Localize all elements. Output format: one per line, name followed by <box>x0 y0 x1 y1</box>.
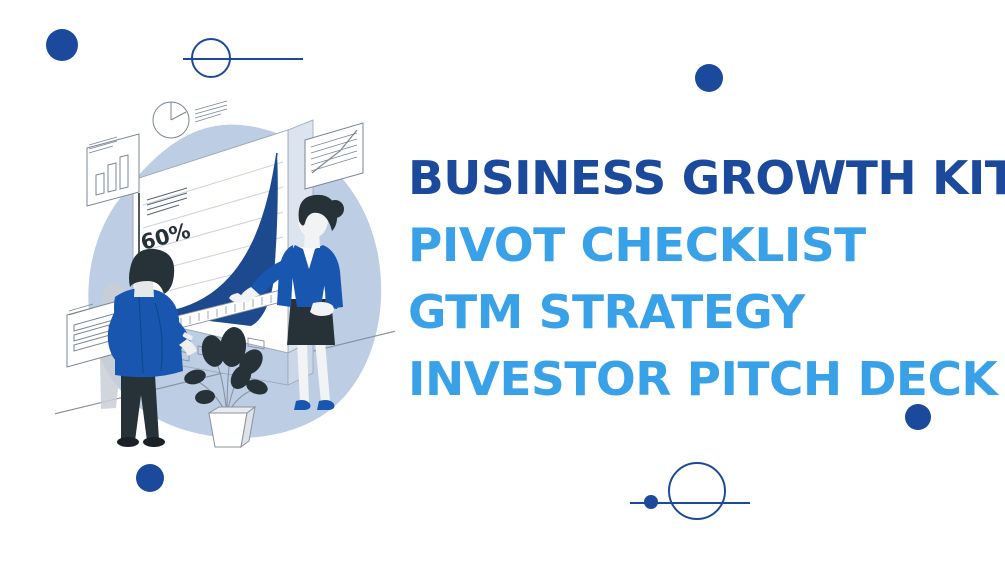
dot-bottom-right-icon <box>644 495 658 509</box>
headline-block: BUSINESS GROWTH KIT: PIVOT CHECKLIST GTM… <box>408 145 988 413</box>
dot-top-left-icon <box>46 29 78 61</box>
ring-bottom-right-icon <box>668 462 726 520</box>
line-chart-card <box>305 123 363 189</box>
dot-bottom-left-icon <box>136 464 164 492</box>
slide-canvas: 60% <box>0 0 1005 565</box>
headline-line-3: GTM STRATEGY <box>408 279 1000 346</box>
ring-top-icon <box>191 38 231 78</box>
headline-line-2: PIVOT CHECKLIST <box>408 212 1000 279</box>
business-growth-illustration: 60% <box>55 85 395 455</box>
headline-line-1: BUSINESS GROWTH KIT: <box>408 145 1000 212</box>
dot-top-right-icon <box>695 64 723 92</box>
headline-line-4: INVESTOR PITCH DECK <box>408 346 1000 413</box>
